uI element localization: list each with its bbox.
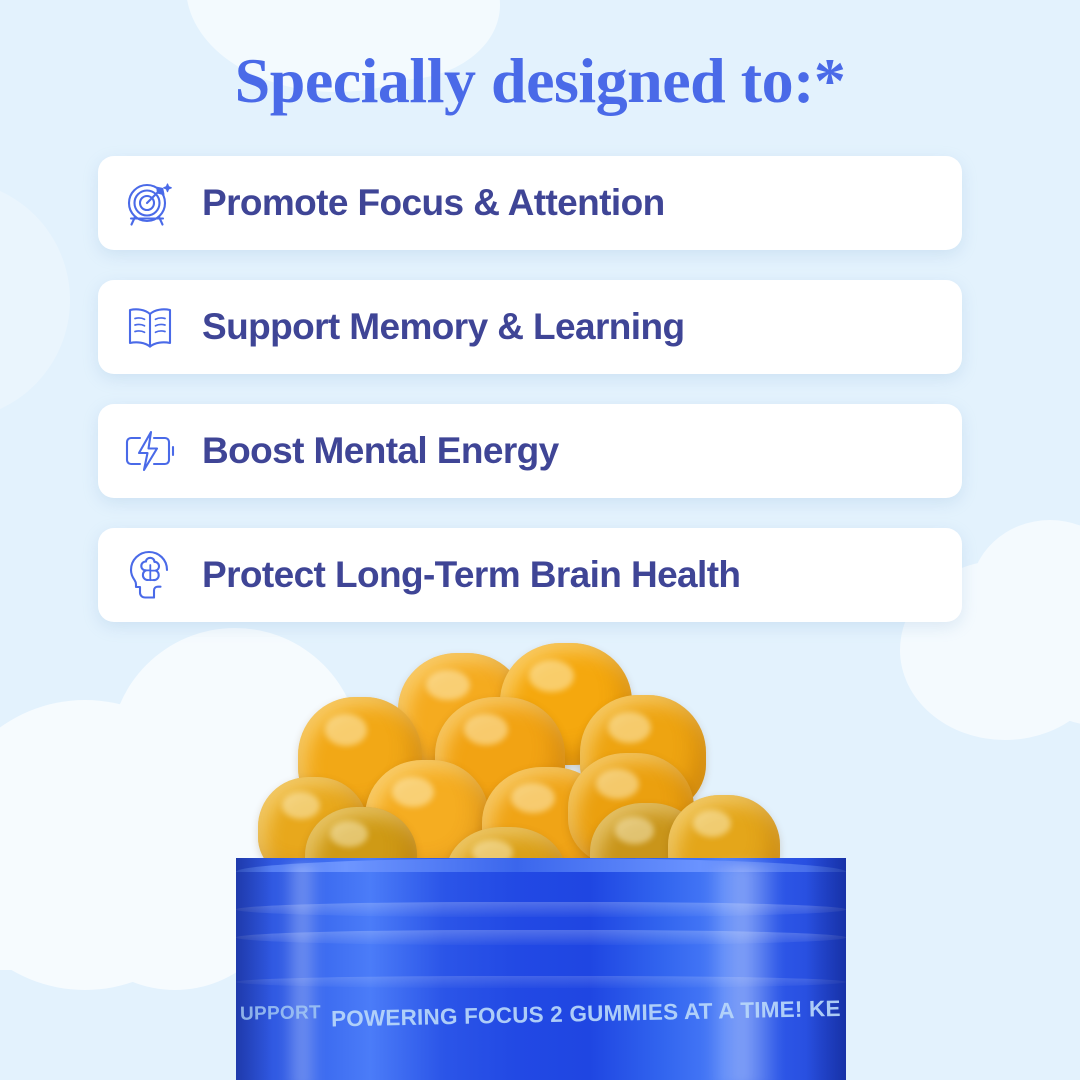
jar-edge-shade-right bbox=[806, 858, 846, 1080]
benefit-card-promote-focus[interactable]: Promote Focus & Attention bbox=[98, 156, 962, 250]
open-book-icon bbox=[98, 301, 202, 353]
benefit-card-label: Boost Mental Energy bbox=[202, 430, 559, 472]
benefit-card-list: Promote Focus & Attention Support Memory… bbox=[98, 156, 962, 652]
product-jar: UPPORT POWERING FOCUS 2 GUMMIES AT A TIM… bbox=[236, 858, 846, 1080]
page-title: Specially designed to:* bbox=[0, 44, 1080, 118]
jar-highlight-left bbox=[282, 864, 322, 1080]
jar-highlight-right bbox=[706, 864, 780, 1080]
gummy-pile bbox=[250, 635, 870, 885]
benefit-card-label: Support Memory & Learning bbox=[202, 306, 684, 348]
benefit-card-label: Protect Long-Term Brain Health bbox=[202, 554, 740, 596]
head-brain-icon bbox=[98, 547, 202, 603]
cloud-decoration-left-mid bbox=[0, 180, 70, 420]
benefit-card-boost-energy[interactable]: Boost Mental Energy bbox=[98, 404, 962, 498]
jar-label-side-text: UPPORT bbox=[240, 1002, 321, 1025]
benefit-card-label: Promote Focus & Attention bbox=[202, 182, 665, 224]
jar-label-main-text: POWERING FOCUS 2 GUMMIES AT A TIME! KE bbox=[331, 995, 861, 1032]
target-arrow-icon bbox=[98, 175, 202, 231]
battery-bolt-icon bbox=[98, 428, 202, 474]
benefit-card-protect-brain[interactable]: Protect Long-Term Brain Health bbox=[98, 528, 962, 622]
promo-graphic: Specially designed to:* Promote Focus & … bbox=[0, 0, 1080, 1080]
jar-edge-shade-left bbox=[236, 858, 272, 1080]
benefit-card-support-memory[interactable]: Support Memory & Learning bbox=[98, 280, 962, 374]
product-photo: UPPORT POWERING FOCUS 2 GUMMIES AT A TIM… bbox=[0, 600, 1080, 1080]
